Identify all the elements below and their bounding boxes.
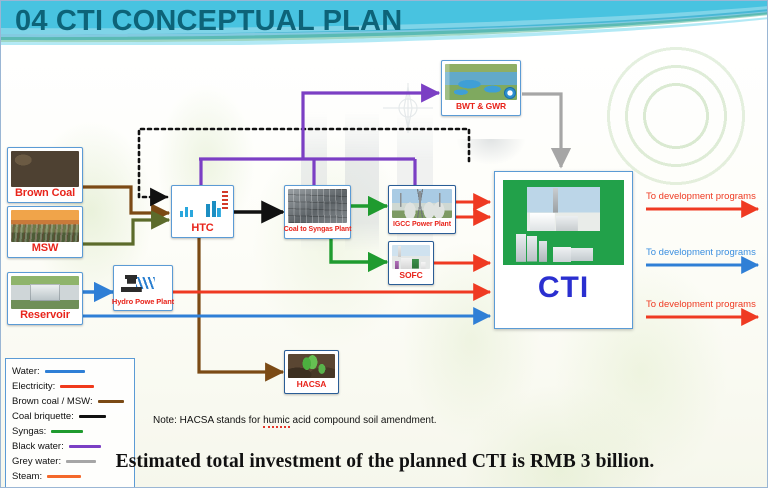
node-msw[interactable]: MSW [7, 206, 83, 258]
node-label-hacsa: HACSA [297, 378, 327, 390]
legend-label-brown-coal-msw: Brown coal / MSW: [12, 395, 93, 408]
investment-statement: Estimated total investment of the planne… [1, 451, 768, 473]
node-label-brown-coal: Brown Coal [15, 187, 75, 199]
igcc-image [392, 189, 452, 218]
reservoir-image [11, 276, 79, 309]
legend-label-coal-briquette: Coal briquette: [12, 410, 74, 423]
node-label-sofc: SOFC [399, 269, 422, 281]
hacsa-note: Note: HACSA stands for humic acid compou… [153, 415, 437, 426]
hacsa-note-suffix: acid compound soil amendment. [290, 415, 437, 426]
hacsa-note-underlined: humic [263, 415, 290, 428]
brown-coal-image [11, 151, 79, 187]
legend-row-syngas: Syngas: [12, 424, 128, 439]
hacsa-image [288, 354, 335, 378]
output-label-3: To development programs [646, 299, 756, 310]
legend-swatch-black-water [69, 445, 101, 448]
node-hydro-power-plant[interactable]: Hydro Powe Plant [113, 265, 173, 311]
recycle-badge-icon [504, 87, 516, 99]
legend-swatch-steam [47, 475, 81, 478]
legend-swatch-water [45, 370, 85, 373]
node-brown-coal[interactable]: Brown Coal [7, 147, 83, 203]
hacsa-note-prefix: Note: HACSA stands for [153, 415, 263, 426]
node-sofc[interactable]: SOFC [388, 241, 434, 285]
legend-swatch-electricity [60, 385, 94, 388]
legend-row-coal-briquette: Coal briquette: [12, 409, 128, 424]
node-label-htc: HTC [191, 222, 213, 234]
legend-swatch-brown-coal-msw [98, 400, 124, 403]
slide-canvas: 04 CTI CONCEPTUAL PLAN [0, 0, 768, 488]
node-label-coal-to-syngas-plant: Coal to Syngas Plant [284, 223, 352, 235]
node-label-bwt-gwr: BWT & GWR [456, 100, 506, 112]
node-cti[interactable]: CTI [494, 171, 633, 329]
node-htc[interactable]: HTC [171, 185, 234, 238]
cti-photo [527, 187, 600, 231]
legend-row-water: Water: [12, 364, 128, 379]
bwt-gwr-image [445, 64, 517, 100]
hydro-plant-image [117, 269, 169, 295]
node-label-reservoir: Reservoir [20, 309, 70, 321]
legend-row-electricity: Electricity: [12, 379, 128, 394]
output-label-1: To development programs [646, 191, 756, 202]
node-igcc-power-plant[interactable]: IGCC Power Plant [388, 185, 456, 234]
node-label-igcc-power-plant: IGCC Power Plant [393, 218, 451, 230]
legend-swatch-syngas [51, 430, 83, 433]
htc-image [175, 189, 230, 222]
cti-image [503, 180, 624, 265]
legend-swatch-coal-briquette [79, 415, 106, 418]
node-hacsa[interactable]: HACSA [284, 350, 339, 394]
output-label-2: To development programs [646, 247, 756, 258]
node-label-cti: CTI [538, 265, 589, 311]
coal-to-syngas-image [288, 189, 347, 223]
legend-label-electricity: Electricity: [12, 380, 55, 393]
msw-image [11, 210, 79, 242]
sofc-image [392, 245, 430, 269]
cti-plant-illustration [513, 233, 615, 262]
node-bwt-gwr[interactable]: BWT & GWR [441, 60, 521, 116]
node-coal-to-syngas-plant[interactable]: Coal to Syngas Plant [284, 185, 351, 239]
node-label-msw: MSW [32, 242, 59, 254]
legend-label-water: Water: [12, 365, 40, 378]
legend-row-brown-coal-msw: Brown coal / MSW: [12, 394, 128, 409]
node-reservoir[interactable]: Reservoir [7, 272, 83, 325]
node-label-hydro-power-plant: Hydro Powe Plant [112, 295, 174, 307]
legend-label-syngas: Syngas: [12, 425, 46, 438]
